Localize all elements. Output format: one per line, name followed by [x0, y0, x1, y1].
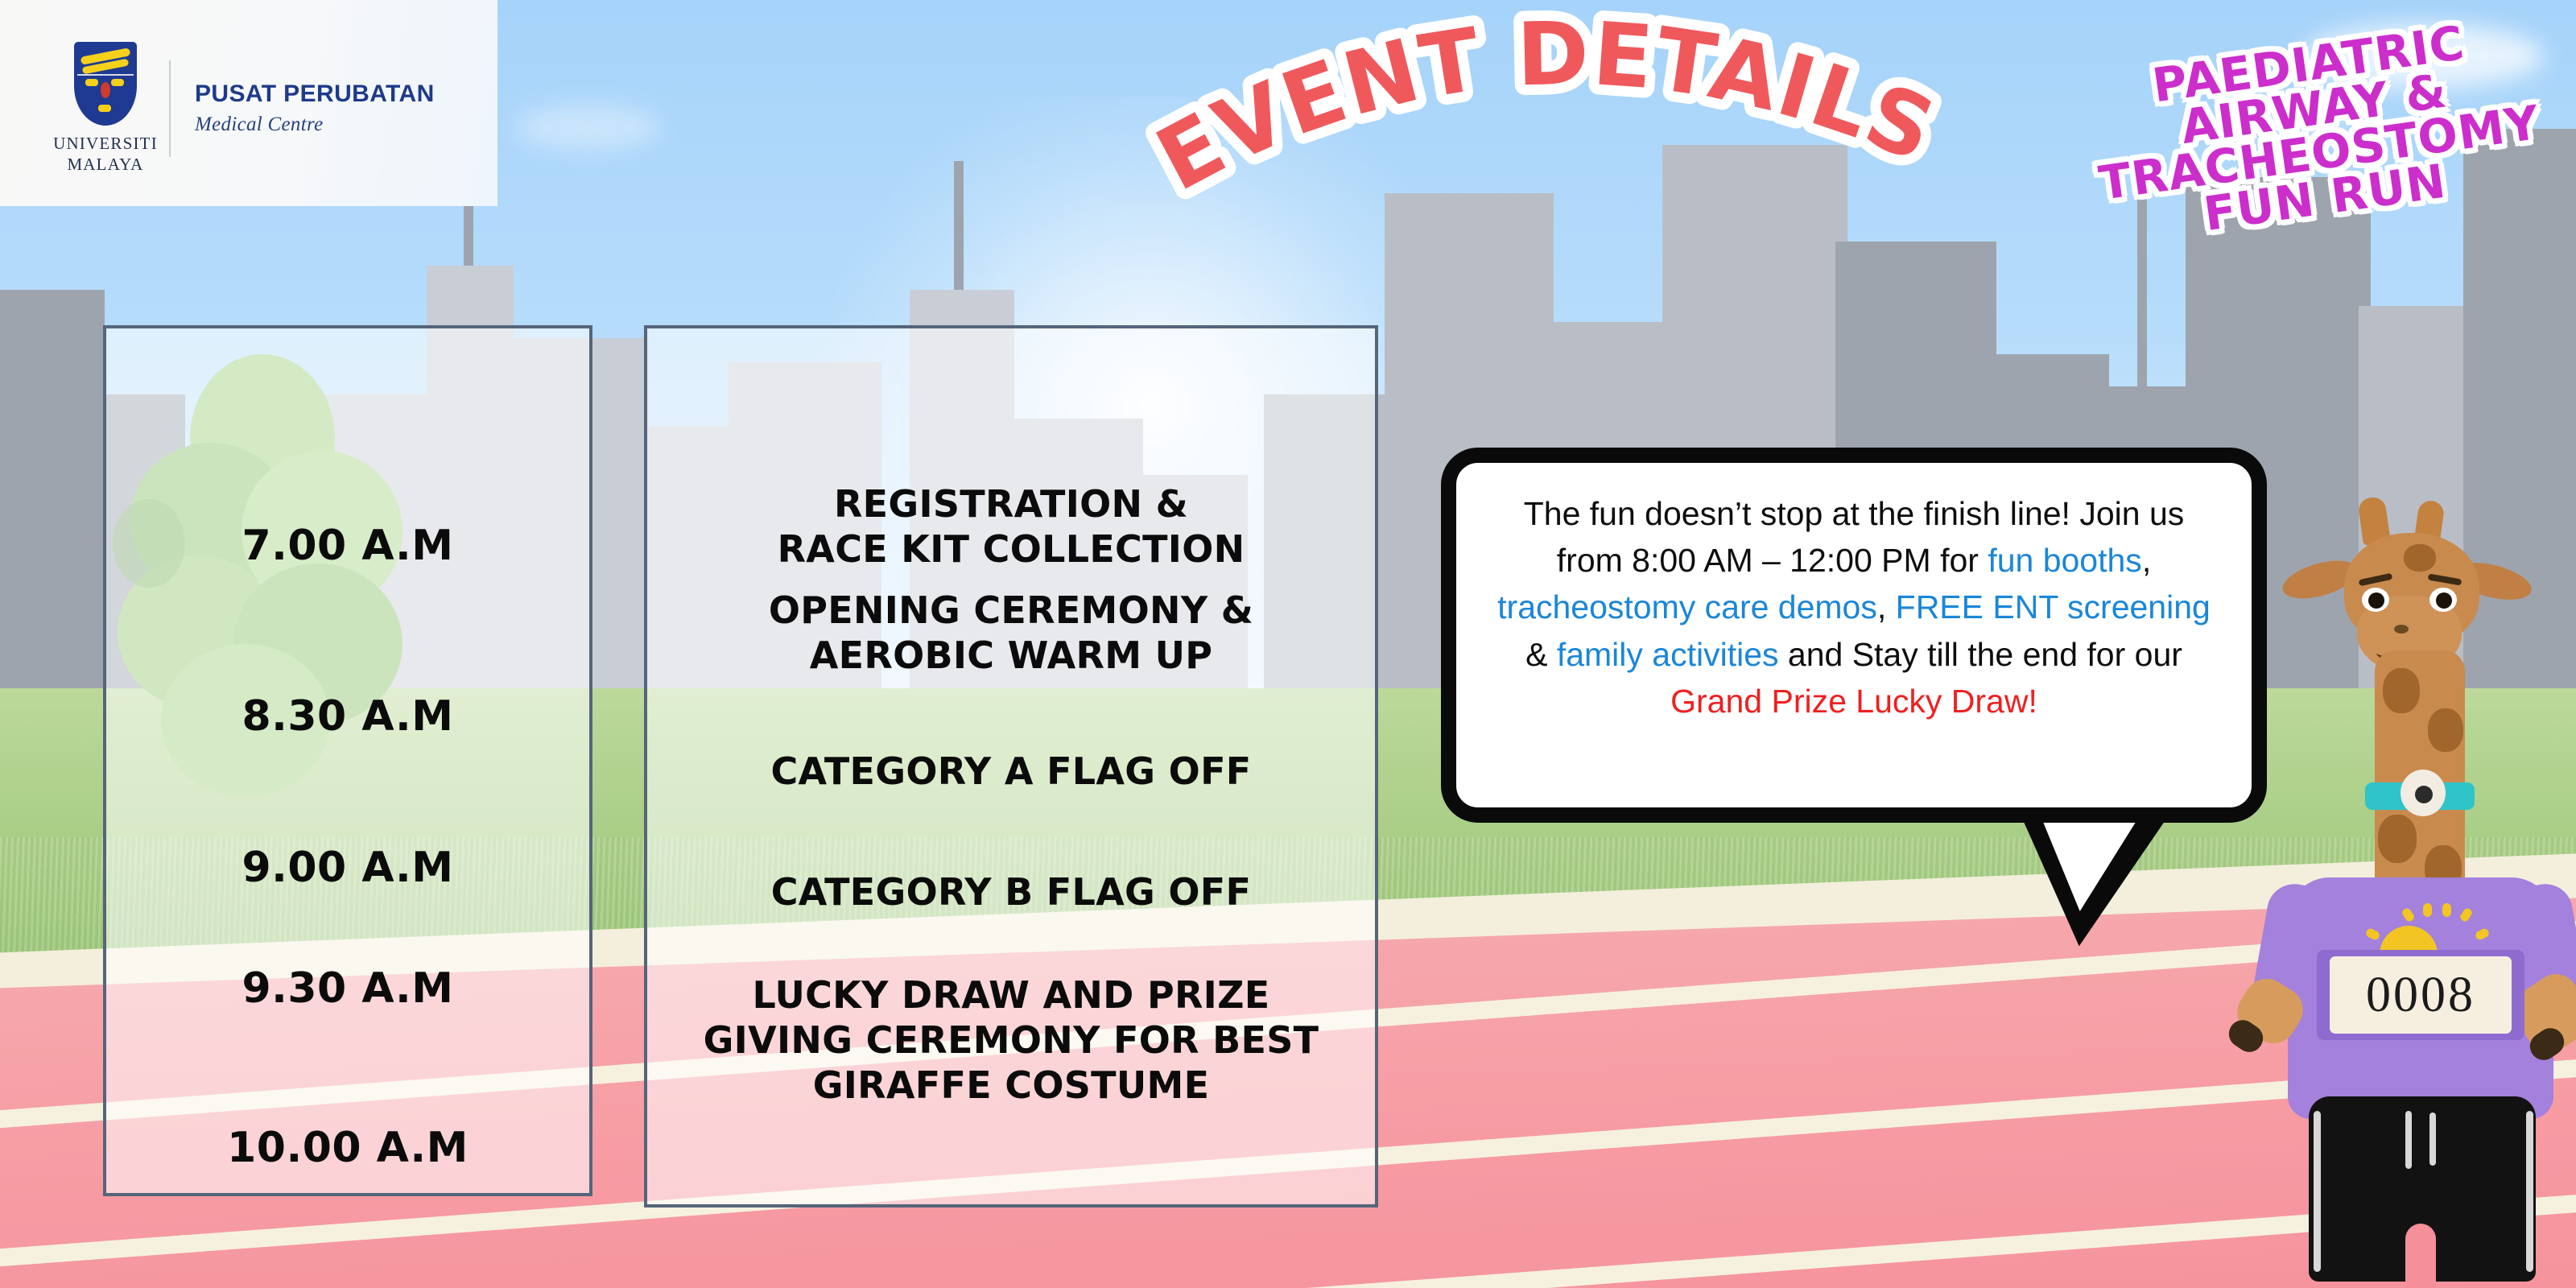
logo-divider [169, 60, 171, 157]
schedule-time-cell: 8.30 A.M [106, 692, 589, 741]
giraffe-pupil-icon [2368, 592, 2384, 609]
schedule-time-cell: 10.00 A.M [106, 1124, 589, 1172]
schedule-time-panel: 7.00 A.M 8.30 A.M 9.00 A.M 9.30 A.M 10.0… [103, 325, 592, 1196]
bubble-ampersand: & [1525, 636, 1557, 673]
tracheostomy-opening-icon [2415, 786, 2433, 803]
schedule-time-cell: 7.00 A.M [106, 522, 589, 570]
shorts-side-stripe [2526, 1111, 2533, 1272]
university-crest: UNIVERSITI MALAYA [45, 42, 166, 175]
logo-header-bar: UNIVERSITI MALAYA PUSAT PERUBATAN Medica… [0, 0, 497, 206]
schedule-activity-cell: CATEGORY B FLAG OFF [647, 869, 1375, 914]
schedule-time-cell: 9.00 A.M [106, 844, 589, 892]
schedule-activity-panel: REGISTRATION & RACE KIT COLLECTION OPENI… [644, 325, 1378, 1207]
shield-icon [74, 42, 137, 126]
org-name-english: Medical Centre [195, 114, 435, 136]
sun-ray-icon [2442, 903, 2451, 917]
bubble-family-activities: family activities [1557, 636, 1779, 673]
bubble-line-1: The fun doesn’t stop at the finish line! [1524, 495, 2070, 532]
schedule-activity-cell: CATEGORY A FLAG OFF [647, 749, 1375, 794]
bubble-free-ent: FREE ENT screening [1896, 588, 2211, 625]
shorts-drawstring [2429, 1113, 2436, 1166]
sun-ray-icon [2423, 903, 2432, 917]
speech-bubble: The fun doesn’t stop at the finish line!… [1441, 448, 2267, 823]
race-bib-number: 0008 [2330, 956, 2512, 1034]
shorts-side-stripe [2314, 1111, 2321, 1272]
giraffe-pupil-icon [2436, 592, 2452, 609]
event-poster: UNIVERSITI MALAYA PUSAT PERUBATAN Medica… [0, 0, 2576, 1288]
bubble-demos: tracheostomy care demos [1497, 588, 1877, 625]
schedule-activity-cell: REGISTRATION & RACE KIT COLLECTION [647, 481, 1375, 572]
bubble-comma-2: , [1877, 588, 1896, 625]
schedule-activity-cell: OPENING CEREMONY & AEROBIC WARM UP [647, 588, 1375, 678]
crest-label-line2: MALAYA [45, 154, 166, 175]
giraffe-spot [2404, 544, 2436, 572]
giraffe-spot [2383, 668, 2420, 713]
giraffe-spot [2378, 815, 2417, 863]
schedule-activity-cell: LUCKY DRAW AND PRIZE GIVING CEREMONY FOR… [647, 972, 1375, 1108]
giraffe-spot [2428, 708, 2463, 752]
crest-label-line1: UNIVERSITI [45, 133, 166, 154]
bubble-grand-prize: Grand Prize Lucky Draw! [1670, 683, 2037, 720]
schedule-time-cell: 9.30 A.M [106, 964, 589, 1013]
giraffe-mascot: 0008 [2246, 467, 2576, 1288]
shorts-drawstring [2405, 1111, 2412, 1169]
giraffe-nostril-icon [2394, 625, 2409, 634]
org-name-malay: PUSAT PERUBATAN [195, 80, 435, 108]
bubble-comma-1: , [2142, 542, 2151, 579]
shorts-leg-gap [2405, 1224, 2436, 1288]
bubble-fun-booths: fun booths [1988, 542, 2142, 579]
bubble-and-stay: and Stay till the end for our [1779, 636, 2182, 673]
